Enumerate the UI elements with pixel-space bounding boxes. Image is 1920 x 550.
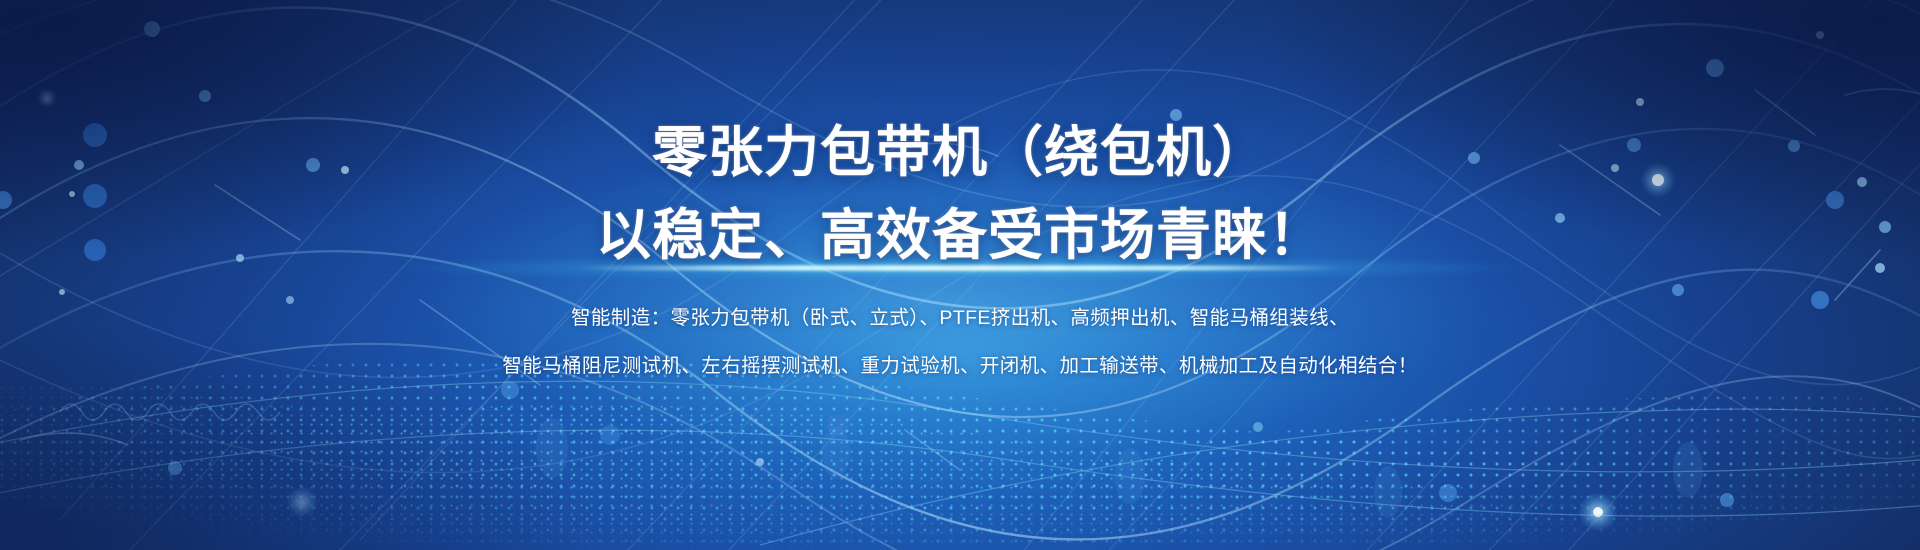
headline-line-1: 零张力包带机（绕包机） bbox=[652, 125, 1268, 180]
headline-line-2: 以稳定、高效备受市场青睐！ bbox=[596, 208, 1324, 263]
promotional-banner: 零张力包带机（绕包机） 以稳定、高效备受市场青睐！ 智能制造：零张力包带机（卧式… bbox=[0, 0, 1920, 550]
banner-content: 零张力包带机（绕包机） 以稳定、高效备受市场青睐！ 智能制造：零张力包带机（卧式… bbox=[0, 0, 1920, 550]
subheadline-line-1: 智能制造：零张力包带机（卧式、立式）、PTFE挤出机、高频押出机、智能马桶组装线… bbox=[571, 309, 1349, 329]
subheadline-line-2: 智能马桶阻尼测试机、左右摇摆测试机、重力试验机、开闭机、加工输送带、机械加工及自… bbox=[502, 357, 1417, 377]
